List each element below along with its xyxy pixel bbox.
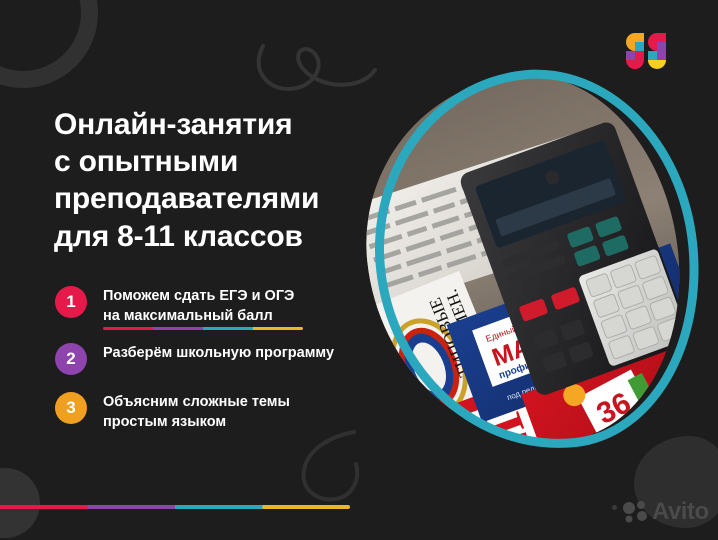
gradient-bar [0, 505, 350, 509]
feature-badge-1: 1 [55, 286, 87, 318]
feature-badge-3: 3 [55, 392, 87, 424]
list-item: 1 Поможем сдать ЕГЭ и ОГЭ на максимальны… [55, 285, 385, 326]
feature-text-1: Поможем сдать ЕГЭ и ОГЭ на максимальный … [103, 285, 294, 326]
decorative-ring [0, 0, 98, 88]
avito-wordmark: Avito [652, 500, 709, 524]
feature-text-2: Разберём школьную программу [103, 342, 334, 363]
list-item: 3 Объясним сложные темы простым языком [55, 391, 385, 432]
list-item: 2 Разберём школьную программу [55, 342, 385, 375]
feature-list: 1 Поможем сдать ЕГЭ и ОГЭ на максимальны… [55, 285, 385, 432]
advertisement-banner: Е.Е. Камзеева ФИЗИКА ТИПОВЫЕ ЭКЗАМЕН. ФИ… [0, 0, 718, 540]
photo-container: Е.Е. Камзеева ФИЗИКА ТИПОВЫЕ ЭКЗАМЕН. ФИ… [368, 62, 706, 458]
watermark-dot [612, 505, 617, 510]
page-title: Онлайн-занятия с опытными преподавателям… [54, 106, 374, 255]
decorative-squiggle-icon [255, 36, 385, 96]
avito-watermark: Avito [622, 500, 709, 524]
decorative-circle [0, 468, 40, 538]
feature-underline [103, 327, 303, 330]
brand-logo-icon [624, 31, 670, 71]
avito-logo-icon [622, 500, 648, 524]
feature-badge-2: 2 [55, 343, 87, 375]
feature-text-3: Объясним сложные темы простым языком [103, 391, 290, 432]
